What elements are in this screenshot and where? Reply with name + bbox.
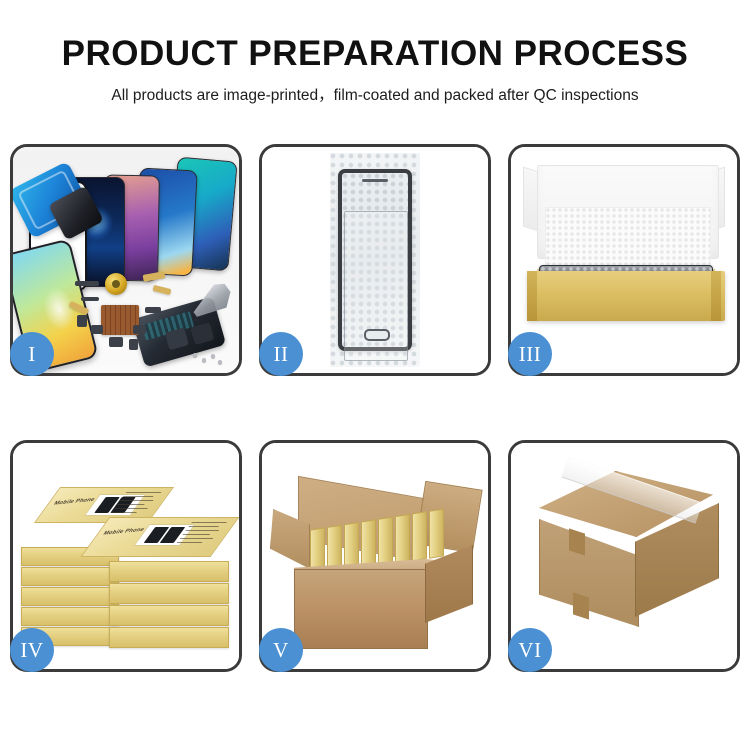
screen-active-area: [344, 211, 408, 361]
step-badge-4: IV: [10, 628, 54, 672]
process-step-panel-4: Mobile Phone Spare Parts Mobile Phone Sp…: [10, 440, 242, 672]
vibration-motor-icon: [91, 325, 103, 334]
process-step-grid: I II: [10, 144, 740, 684]
sim-tray-icon: [133, 325, 146, 334]
kraft-box-body: [527, 271, 725, 321]
loudspeaker-icon: [109, 337, 123, 347]
header: PRODUCT PREPARATION PROCESS All products…: [0, 0, 750, 105]
retail-box: [109, 605, 229, 626]
product-preparation-infographic: PRODUCT PREPARATION PROCESS All products…: [0, 0, 750, 750]
process-step-panel-2: II: [259, 144, 491, 376]
step-badge-1: I: [10, 332, 54, 376]
retail-box: [21, 607, 119, 626]
carton-front-face: [294, 569, 428, 649]
box-edge-left: [527, 271, 537, 321]
wrapped-screen: [338, 169, 412, 351]
process-step-panel-6: VI: [508, 440, 740, 672]
battery-connector-icon: [129, 339, 138, 350]
page-subtitle: All products are image-printed，film-coat…: [0, 73, 750, 105]
speaker-coil-icon: [105, 273, 127, 295]
process-step-panel-1: I: [10, 144, 242, 376]
retail-box: [109, 561, 229, 582]
camera-module-icon: [77, 315, 87, 327]
step-badge-5: V: [259, 628, 303, 672]
retail-box: [21, 567, 119, 586]
process-step-panel-5: V: [259, 440, 491, 672]
process-step-panel-3: III: [508, 144, 740, 376]
earpiece-mesh-icon: [75, 281, 99, 286]
step-badge-2: II: [259, 332, 303, 376]
connector-icon: [145, 307, 161, 313]
step-badge-3: III: [508, 332, 552, 376]
retail-box: [21, 587, 119, 606]
step-badge-6: VI: [508, 628, 552, 672]
screws-group-icon: [193, 353, 223, 365]
retail-box: [109, 583, 229, 604]
antenna-strip-icon: [81, 297, 99, 301]
page-title: PRODUCT PREPARATION PROCESS: [0, 0, 750, 73]
retail-box: [109, 627, 229, 648]
box-edge-right: [711, 271, 721, 321]
